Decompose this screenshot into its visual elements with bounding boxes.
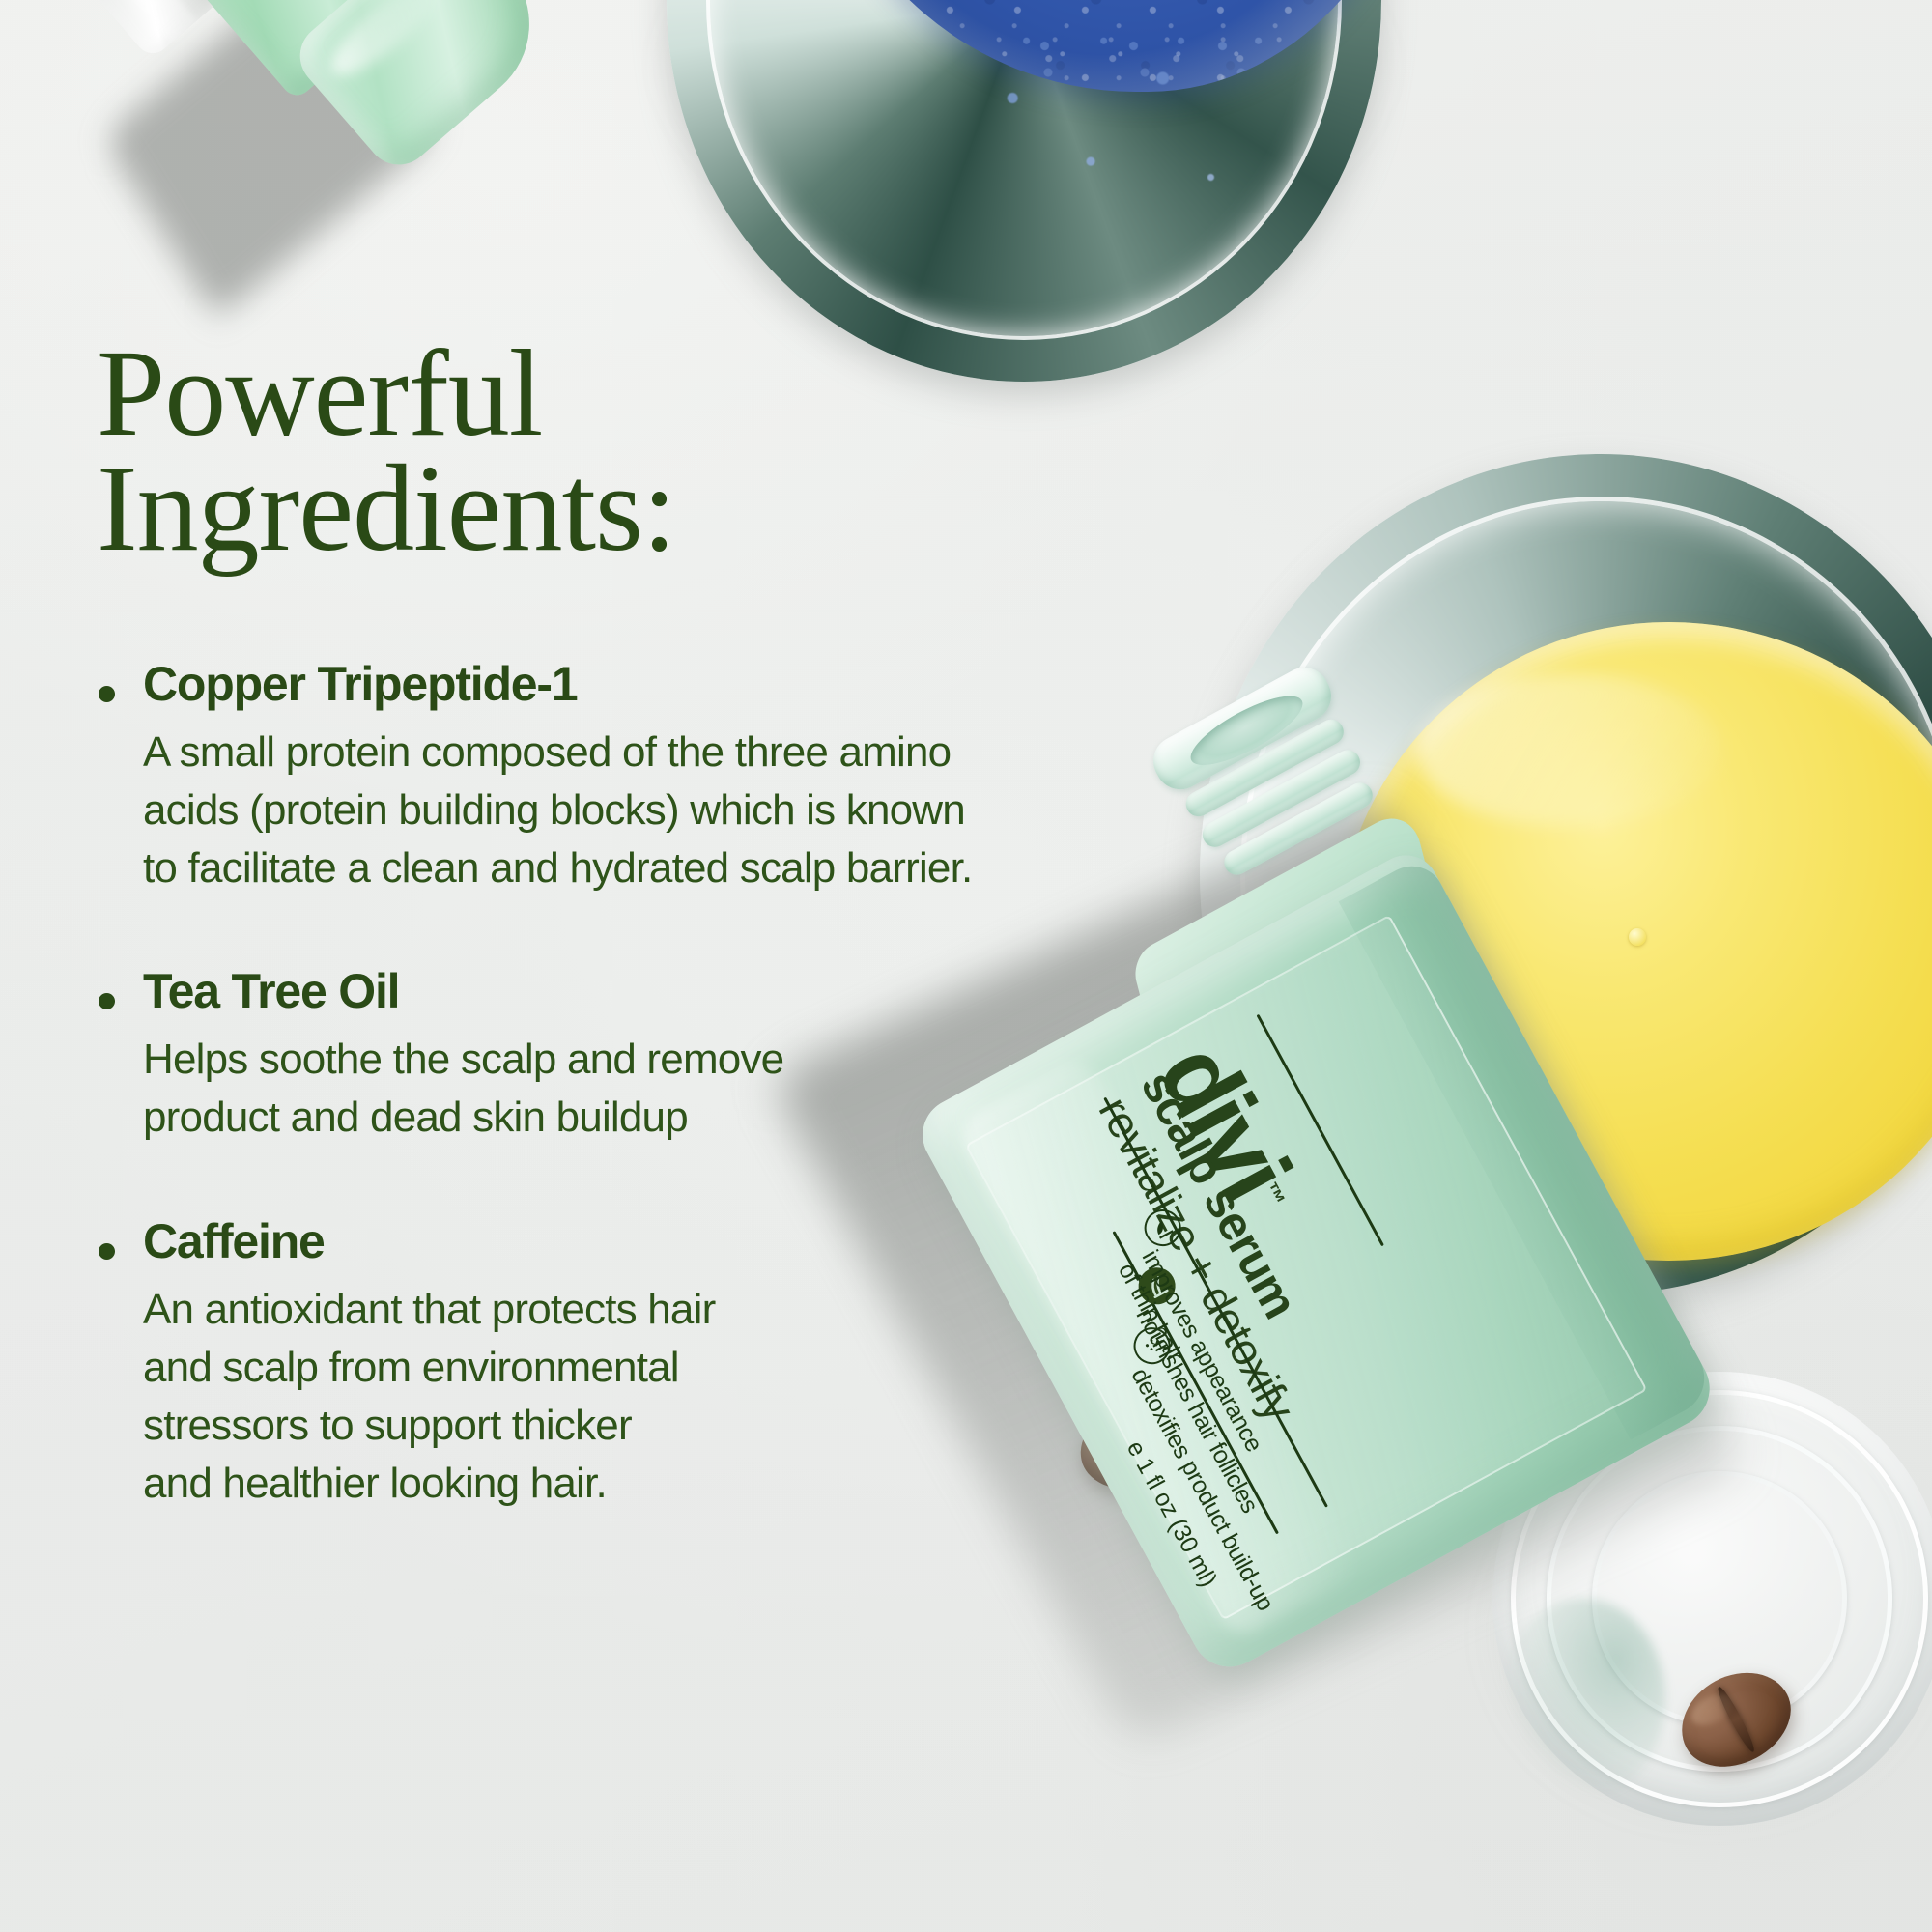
list-item: Copper Tripeptide-1 A small protein comp…	[89, 655, 1065, 896]
ingredient-description: Helps soothe the scalp and remove produc…	[143, 1031, 1065, 1147]
clear-jar-green-edge	[1501, 1599, 1664, 1799]
copy-block: Powerful Ingredients: Copper Tripeptide-…	[0, 0, 1063, 1932]
ingredient-description: A small protein composed of the three am…	[143, 724, 1065, 896]
headline-line-2: Ingredients:	[97, 440, 675, 577]
ingredient-name: Caffeine	[143, 1212, 1065, 1271]
product-ingredient-graphic: divi™ scalp serum revitalize + detoxify	[0, 0, 1932, 1932]
page-title: Powerful Ingredients:	[97, 336, 675, 566]
ingredient-description: An antioxidant that protects hair and sc…	[143, 1281, 1065, 1512]
ingredient-list: Copper Tripeptide-1 A small protein comp…	[89, 655, 1065, 1512]
ingredient-name: Tea Tree Oil	[143, 962, 1065, 1021]
list-item: Tea Tree Oil Helps soothe the scalp and …	[89, 962, 1065, 1147]
list-item: Caffeine An antioxidant that protects ha…	[89, 1212, 1065, 1512]
bullet-dot-icon	[99, 993, 115, 1009]
bullet-dot-icon	[99, 1243, 115, 1260]
bullet-dot-icon	[99, 686, 115, 702]
ingredient-name: Copper Tripeptide-1	[143, 655, 1065, 714]
